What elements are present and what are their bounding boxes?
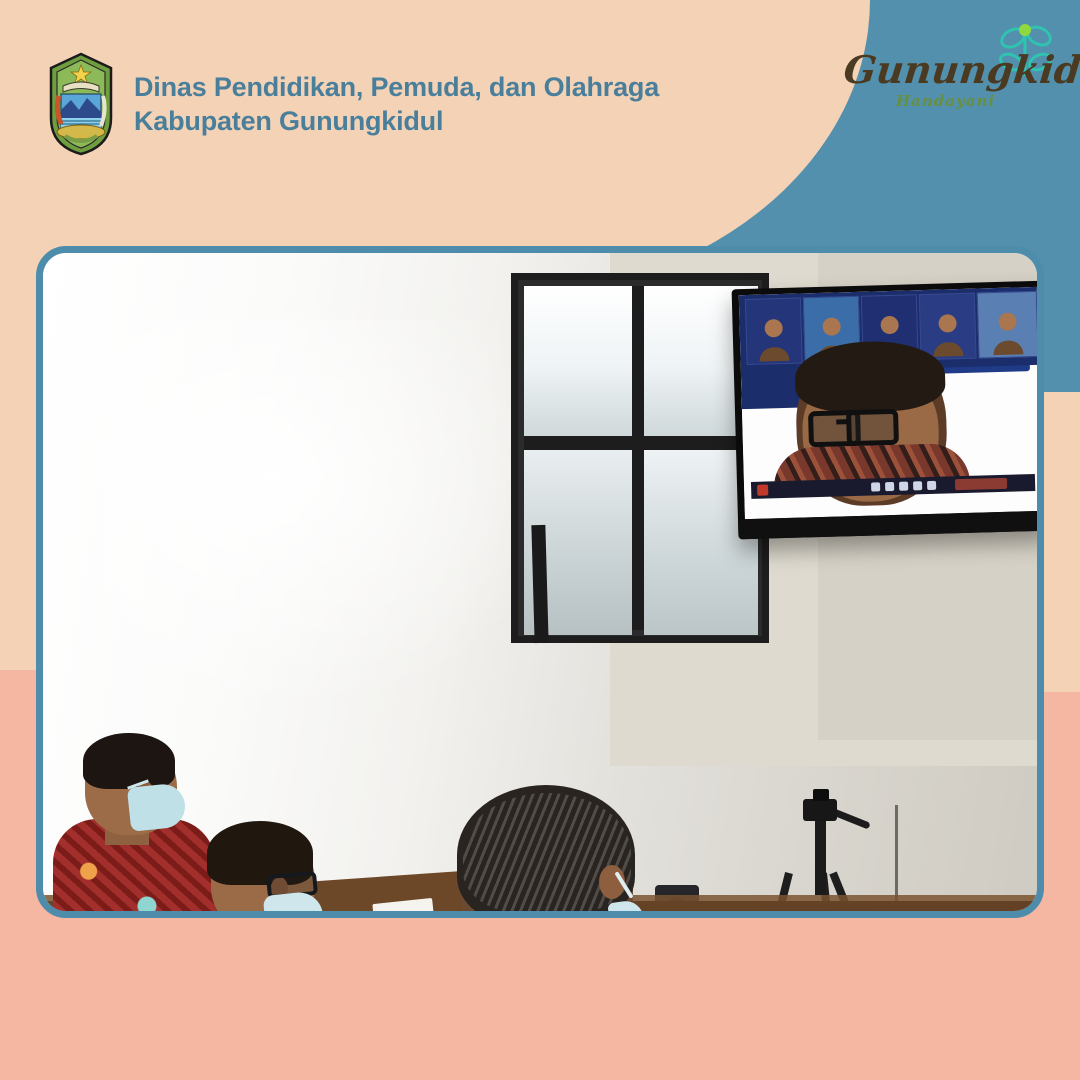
wall-tv-icon <box>732 281 1037 540</box>
poster-footer: @dikpora_gk pendidikan.gunungkidulkab.go… <box>0 930 1080 1080</box>
taskbar-icon <box>885 482 894 491</box>
brand-tagline: Handayani <box>896 92 995 110</box>
window-mullion <box>632 286 644 630</box>
taskbar-icon <box>899 482 908 491</box>
taskbar-record-indicator <box>757 484 768 495</box>
room-window <box>511 273 769 643</box>
participant-tile <box>977 291 1037 359</box>
title-line-2: Kabupaten Gunungkidul <box>134 104 754 138</box>
poster-header: Dinas Pendidikan, Pemuda, dan Olahraga K… <box>0 0 1080 240</box>
wall-light-glow <box>103 319 580 714</box>
tripod-camera-mount <box>813 789 829 801</box>
speaker-glasses-bridge <box>836 419 850 424</box>
page-title: Dinas Pendidikan, Pemuda, dan Olahraga K… <box>134 70 754 138</box>
poster-canvas: Dinas Pendidikan, Pemuda, dan Olahraga K… <box>0 0 1080 1080</box>
brand-wordmark: Gunungkidul <box>842 50 1036 90</box>
meeting-photo <box>43 253 1037 911</box>
participant-tile <box>919 293 977 361</box>
attendee-hair <box>83 733 175 789</box>
speaker-glasses-right <box>846 409 899 446</box>
tv-screen <box>739 287 1037 519</box>
tripod-icon <box>803 799 837 821</box>
taskbar-icon <box>871 482 880 491</box>
gunungkidul-brand-logo: Gunungkidul Handayani <box>844 28 1064 132</box>
gunungkidul-coat-of-arms-icon <box>45 52 117 156</box>
taskbar-window-button <box>955 478 1007 490</box>
taskbar-icon <box>927 481 936 490</box>
photo-frame <box>36 246 1044 918</box>
background-peach-left-strip <box>0 240 36 670</box>
window-pane <box>524 286 632 436</box>
title-line-1: Dinas Pendidikan, Pemuda, dan Olahraga <box>134 70 754 104</box>
participant-tile <box>745 297 803 365</box>
window-transom <box>524 436 756 450</box>
tripod-column <box>815 819 826 895</box>
taskbar-icon <box>913 481 922 490</box>
